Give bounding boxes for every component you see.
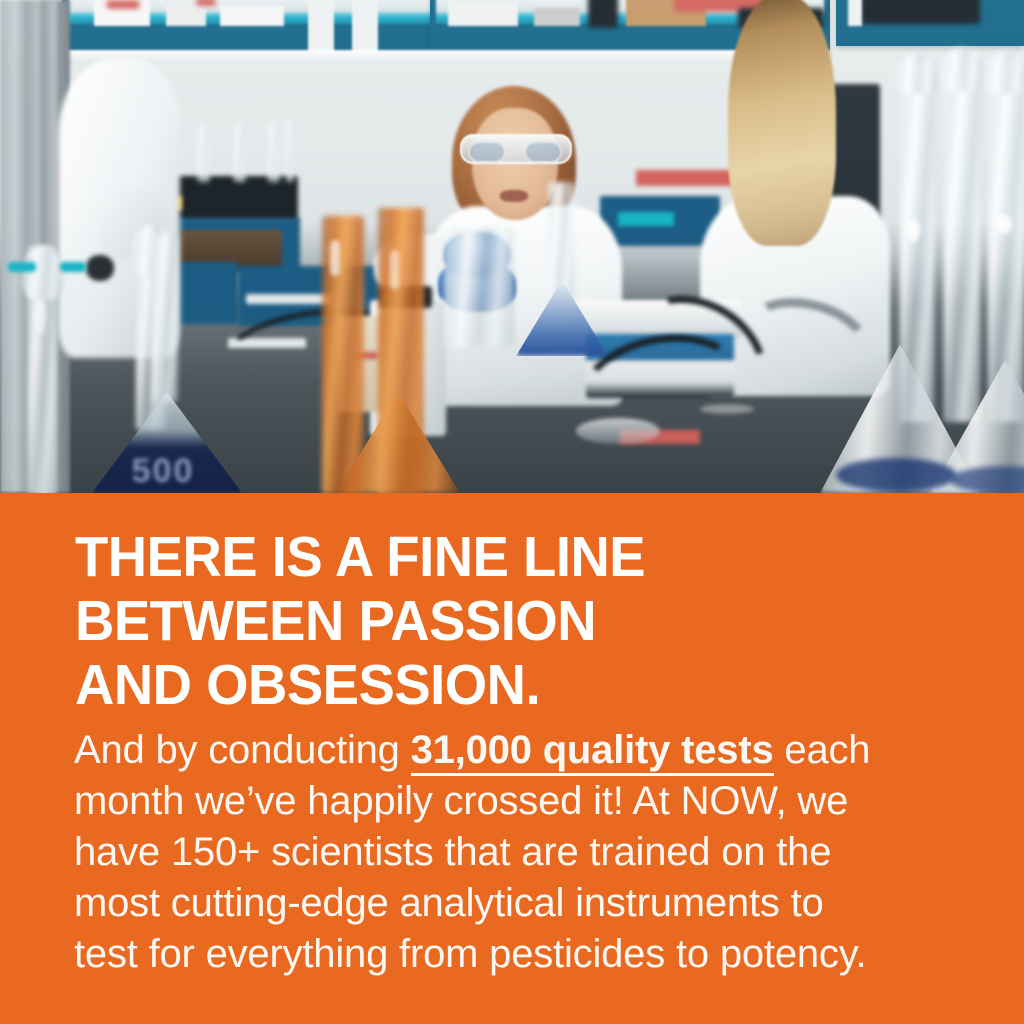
cabinet-items-far	[844, 0, 1016, 28]
body-copy: And by conducting 31,000 quality tests e…	[74, 725, 954, 980]
pipette-bulb-left	[22, 246, 64, 300]
headline-line-1: THERE IS A FINE LINE	[75, 525, 935, 589]
headline-line-3: AND OBSESSION.	[75, 653, 935, 717]
vial-2	[198, 124, 210, 182]
glass-column-top-1	[896, 54, 938, 94]
body-line-3: have 150+ scientists that are trained on…	[74, 827, 954, 878]
vial-3	[234, 124, 246, 182]
beaker-front	[444, 228, 514, 346]
goggle-lens-right	[524, 141, 562, 163]
amber-cylinder-1	[322, 216, 364, 493]
glass-column-top-3	[984, 52, 1024, 94]
page-title: THERE IS A FINE LINE BETWEEN PASSION AND…	[75, 525, 935, 717]
goggle-lens-left	[468, 141, 506, 163]
body-line-2: month we’ve happily crossed it! At NOW, …	[74, 776, 954, 827]
cabinet-handle-1	[246, 294, 332, 304]
glass-glint-left	[34, 300, 46, 334]
glass-glint-right-2	[996, 214, 1012, 234]
vial-4	[268, 122, 280, 182]
amber-glint-1	[330, 240, 340, 276]
bench-highlight	[700, 404, 754, 414]
scientist-mouth	[500, 190, 528, 202]
headline-line-2: BETWEEN PASSION	[75, 589, 935, 653]
promotional-poster: 500 THERE IS A FIN	[0, 0, 1024, 1024]
shelf-edge	[62, 50, 830, 64]
scientist-face	[472, 108, 558, 220]
cabinet-items-left	[70, 0, 440, 28]
pipette-marker-left	[8, 262, 36, 272]
petri-dish	[576, 418, 660, 444]
body-line-4: most cutting-edge analytical instruments…	[74, 878, 954, 929]
body-line-1-suffix: each	[774, 728, 871, 772]
orange-text-band: THERE IS A FINE LINE BETWEEN PASSION AND…	[0, 493, 1024, 1024]
vial-5	[286, 118, 294, 182]
blonde-scientist-hair	[728, 0, 836, 246]
pipette-marker-right	[60, 262, 86, 272]
flask-volume-label: 500	[108, 452, 218, 491]
body-line-5: test for everything from pesticides to p…	[74, 929, 954, 980]
laboratory-photo: 500	[0, 0, 1024, 493]
technician-hand	[86, 255, 114, 281]
overhead-cabinet-left	[62, 0, 448, 54]
glass-column-2	[944, 56, 980, 422]
safety-goggles	[460, 134, 572, 164]
overhead-cabinet-far-right	[836, 0, 1024, 46]
glass-glint-right-1	[906, 220, 920, 242]
body-line-1: And by conducting 31,000 quality tests e…	[74, 725, 954, 776]
flask-liquid-right	[836, 458, 956, 492]
body-line-1-prefix: And by conducting	[74, 728, 411, 772]
amber-glint-2	[390, 250, 399, 290]
stat-quality-tests: 31,000 quality tests	[411, 728, 774, 776]
glass-column-top-2	[940, 48, 984, 90]
flask-neck-500	[152, 236, 178, 402]
